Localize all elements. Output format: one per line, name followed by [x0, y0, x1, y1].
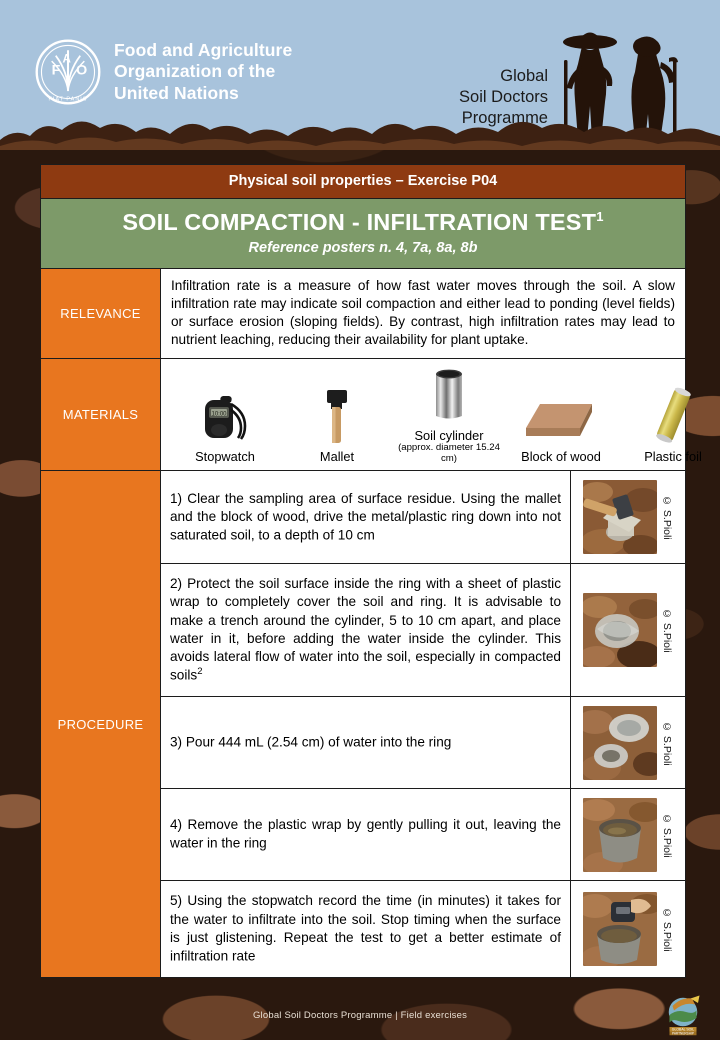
photo-timing-with-stopwatch [583, 892, 657, 966]
category-banner: Physical soil properties – Exercise P04 [41, 165, 685, 199]
photo-ring-covered-with-plastic-wrap [583, 593, 657, 667]
block-of-wood-art [522, 386, 600, 444]
plastic-foil-art [647, 386, 699, 444]
relevance-row: RELEVANCE Infiltration rate is a measure… [41, 269, 685, 359]
fao-name-line-2: Organization of the [114, 61, 292, 82]
procedure-step-photo: © S.Pioli [570, 471, 685, 563]
material-label: Mallet [320, 449, 354, 464]
fao-emblem-icon: F A O FIAT PANIS [34, 38, 102, 106]
photo-image [583, 593, 657, 667]
materials-content: 10:00 Stopwatch [161, 359, 720, 470]
svg-text:FIAT PANIS: FIAT PANIS [49, 97, 88, 103]
stopwatch-icon: 10:00 [197, 392, 253, 444]
relevance-content: Infiltration rate is a measure of how fa… [161, 269, 685, 358]
procedure-step-photo: © S.Pioli [570, 697, 685, 788]
mallet-icon [314, 388, 360, 444]
stopwatch-art: 10:00 [197, 386, 253, 444]
material-mallet: Mallet [281, 386, 393, 464]
procedure-label: PROCEDURE [41, 471, 161, 977]
soil-cylinder-art [427, 365, 471, 423]
procedure-step-photo: © S.Pioli [570, 789, 685, 880]
procedure-step: 3) Pour 444 mL (2.54 cm) of water into t… [161, 697, 685, 789]
relevance-label: RELEVANCE [41, 269, 161, 358]
photo-credit: © S.Pioli [661, 907, 673, 952]
material-soil-cylinder: Soil cylinder (approx. diameter 15.24 cm… [393, 365, 505, 464]
page-header: F A O FIAT PANIS Food and Agriculture Or… [0, 0, 720, 150]
photo-ring-filled-with-water [583, 798, 657, 872]
photo-image [583, 798, 657, 872]
material-label: Stopwatch [195, 449, 255, 464]
fao-name-line-1: Food and Agriculture [114, 40, 292, 61]
material-sublabel: (approx. diameter 15.24 cm) [393, 443, 505, 464]
step-text: 2) Protect the soil surface inside the r… [170, 576, 561, 682]
svg-text:A: A [63, 53, 72, 65]
fao-organization-name: Food and Agriculture Organization of the… [114, 40, 292, 104]
material-label: Block of wood [521, 449, 601, 464]
fao-name-line-3: United Nations [114, 83, 292, 104]
fao-logo: F A O FIAT PANIS Food and Agriculture Or… [34, 38, 292, 106]
procedure-step: 4) Remove the plastic wrap by gently pul… [161, 789, 685, 881]
photo-credit: © S.Pioli [661, 813, 673, 858]
svg-text:10:00: 10:00 [211, 412, 227, 418]
materials-label: MATERIALS [41, 359, 161, 470]
photo-credit: © S.Pioli [661, 721, 673, 766]
mallet-art [314, 386, 360, 444]
procedure-step-text: 5) Using the stopwatch record the time (… [161, 881, 570, 977]
procedure-step-text: 2) Protect the soil surface inside the r… [161, 564, 570, 696]
procedure-row: PROCEDURE 1) Clear the sampling area of … [41, 471, 685, 977]
page-title-text: SOIL COMPACTION - INFILTRATION TEST [122, 209, 596, 235]
svg-text:PARTNERSHIP: PARTNERSHIP [672, 1032, 694, 1036]
step-footnote-marker: 2 [197, 666, 202, 677]
material-plastic-foil: Plastic foil [617, 386, 720, 464]
dirt-mound-decoration [0, 106, 720, 150]
photo-pouring-water [583, 706, 657, 780]
material-stopwatch: 10:00 Stopwatch [169, 386, 281, 464]
footer-text: Global Soil Doctors Programme | Field ex… [253, 1010, 467, 1021]
page-footer: Global Soil Doctors Programme | Field ex… [0, 990, 720, 1040]
procedure-step: 5) Using the stopwatch record the time (… [161, 881, 685, 977]
step-text: 3) Pour 444 mL (2.54 cm) of water into t… [170, 735, 451, 750]
title-banner: SOIL COMPACTION - INFILTRATION TEST1 Ref… [41, 199, 685, 269]
photo-image [583, 892, 657, 966]
material-label: Plastic foil [644, 449, 702, 464]
procedure-step: 2) Protect the soil surface inside the r… [161, 564, 685, 697]
relevance-text: Infiltration rate is a measure of how fa… [171, 277, 675, 349]
procedure-step-photo: © S.Pioli [570, 881, 685, 977]
exercise-sheet: Physical soil properties – Exercise P04 … [40, 164, 686, 978]
page-title: SOIL COMPACTION - INFILTRATION TEST1 [41, 209, 685, 236]
svg-text:F: F [52, 63, 61, 79]
photo-image [583, 706, 657, 780]
global-soil-partnership-logo: GLOBAL SOIL PARTNERSHIP [660, 994, 706, 1036]
page-title-footnote-marker: 1 [596, 209, 603, 224]
svg-text:O: O [76, 63, 87, 79]
procedure-step: 1) Clear the sampling area of surface re… [161, 471, 685, 564]
procedure-step-photo: © S.Pioli [570, 564, 685, 696]
material-block-of-wood: Block of wood [505, 386, 617, 464]
step-text: 1) Clear the sampling area of surface re… [170, 491, 561, 543]
photo-credit: © S.Pioli [661, 495, 673, 540]
block-of-wood-icon [522, 398, 600, 444]
page-subtitle: Reference posters n. 4, 7a, 8a, 8b [41, 240, 685, 256]
soil-cylinder-icon [427, 367, 471, 423]
procedure-steps: 1) Clear the sampling area of surface re… [161, 471, 685, 977]
materials-row: MATERIALS 10:00 Stopwatch [41, 359, 685, 471]
procedure-step-text: 1) Clear the sampling area of surface re… [161, 471, 570, 563]
procedure-step-text: 4) Remove the plastic wrap by gently pul… [161, 789, 570, 880]
plastic-foil-icon [647, 386, 699, 444]
procedure-step-text: 3) Pour 444 mL (2.54 cm) of water into t… [161, 697, 570, 788]
material-label: Soil cylinder [415, 428, 484, 443]
photo-driving-ring-with-mallet [583, 480, 657, 554]
photo-credit: © S.Pioli [661, 608, 673, 653]
step-text: 5) Using the stopwatch record the time (… [170, 893, 561, 963]
step-text: 4) Remove the plastic wrap by gently pul… [170, 817, 561, 851]
photo-image [583, 480, 657, 554]
